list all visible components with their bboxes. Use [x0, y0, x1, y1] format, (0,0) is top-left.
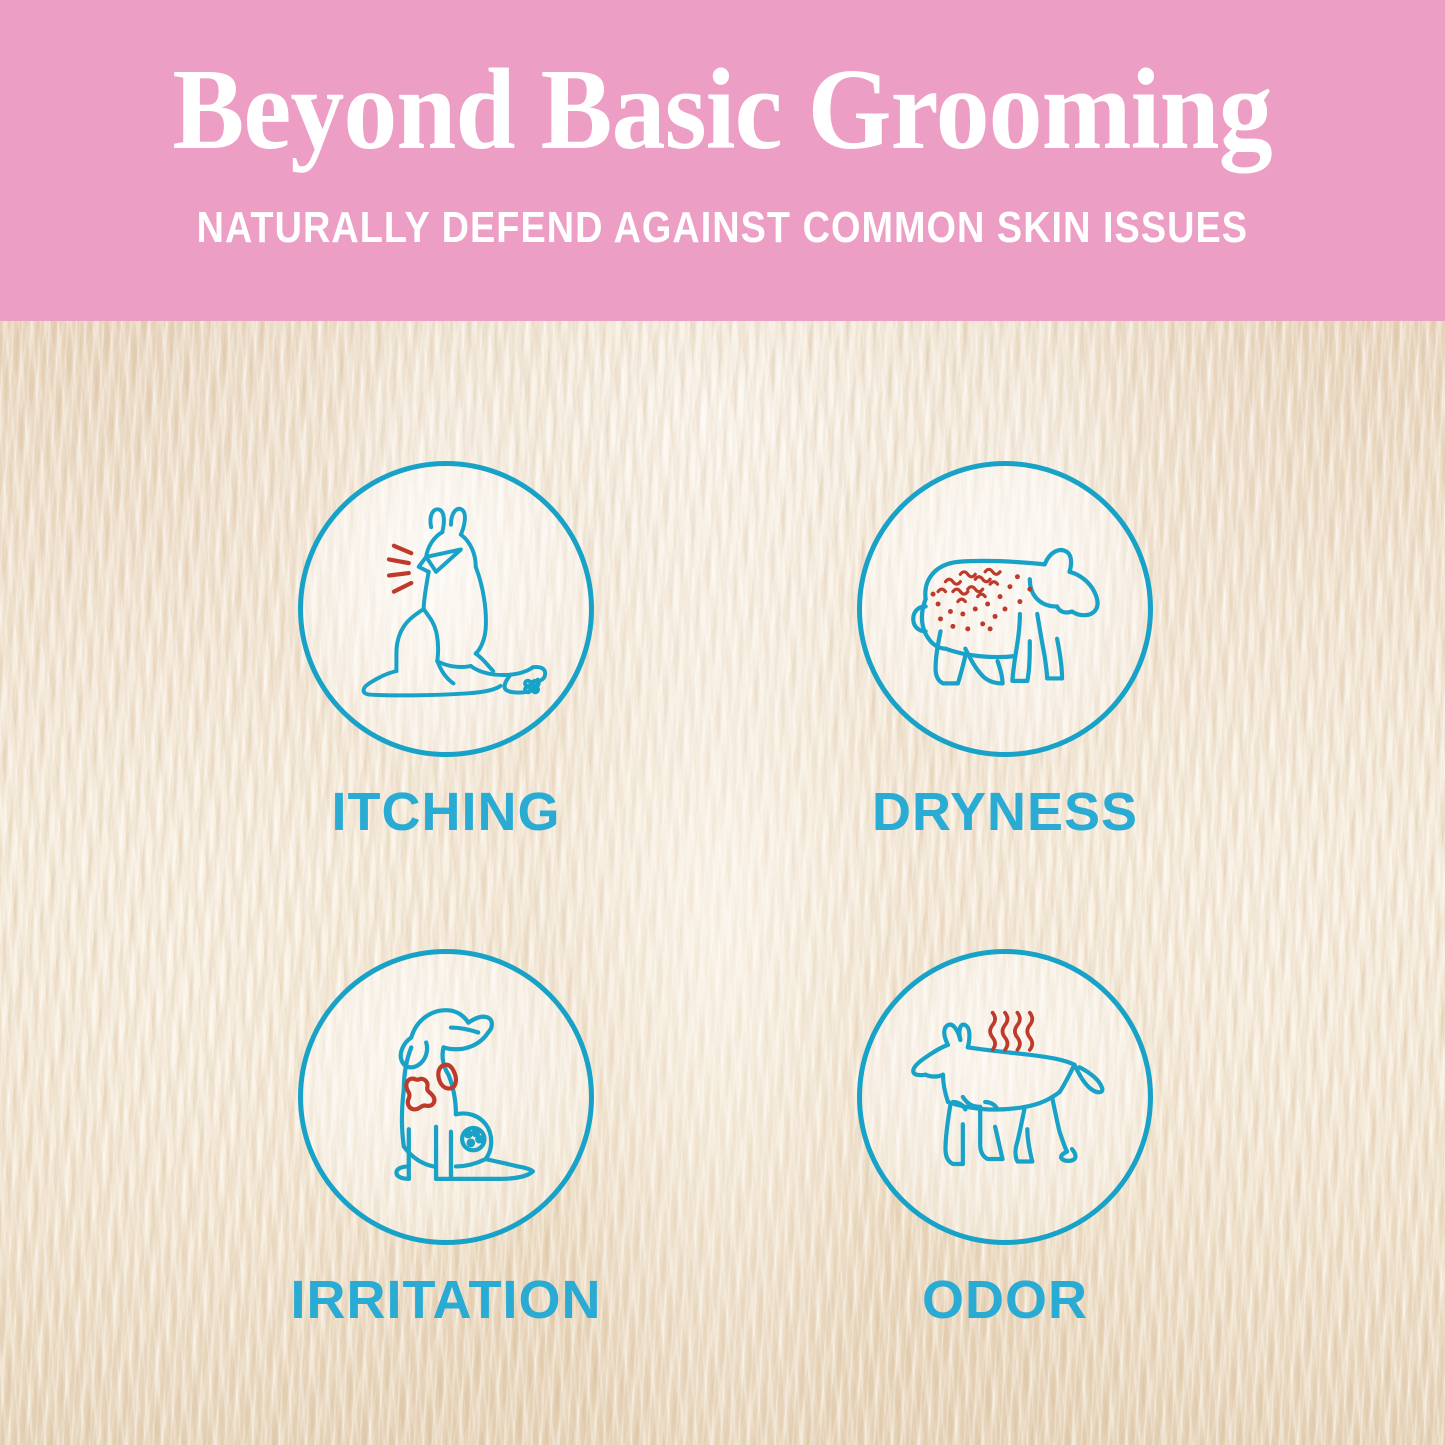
benefit-item-irritation: IRRITATION [246, 949, 646, 1327]
page-subtitle: NATURALLY DEFEND AGAINST COMMON SKIN ISS… [197, 206, 1248, 250]
benefit-label-itching: ITCHING [246, 785, 646, 839]
benefits-grid: ITCHING [0, 321, 1445, 1445]
odor-circle [857, 949, 1153, 1245]
header-banner: Beyond Basic Grooming NATURALLY DEFEND A… [0, 0, 1445, 321]
dog-irritated-patches-icon [322, 973, 570, 1221]
irritation-circle [298, 949, 594, 1245]
dog-odor-icon [881, 973, 1129, 1221]
benefit-label-irritation: IRRITATION [246, 1273, 646, 1327]
benefit-label-odor: ODOR [805, 1273, 1205, 1327]
benefit-item-dryness: DRYNESS [805, 461, 1205, 839]
itching-circle [298, 461, 594, 757]
benefit-item-itching: ITCHING [246, 461, 646, 839]
dog-scratching-icon [322, 485, 570, 733]
page-title: Beyond Basic Grooming [173, 52, 1272, 168]
benefit-item-odor: ODOR [805, 949, 1205, 1327]
dog-flaky-skin-icon [881, 485, 1129, 733]
dryness-circle [857, 461, 1153, 757]
benefit-label-dryness: DRYNESS [805, 785, 1205, 839]
